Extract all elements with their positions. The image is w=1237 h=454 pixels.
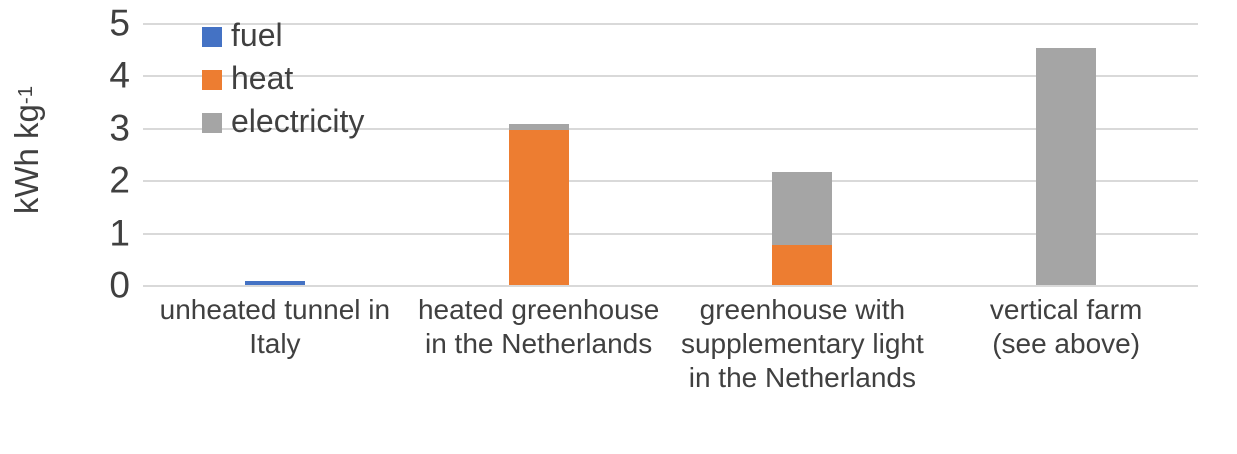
x-axis-category-label-line: unheated tunnel in (143, 293, 407, 327)
axis-baseline (143, 285, 1198, 287)
bar-group[interactable] (1036, 48, 1096, 285)
x-axis-category-label: greenhouse withsupplementary lightin the… (671, 293, 935, 395)
legend-item-heat[interactable]: heat (202, 61, 364, 95)
bar-segment-electricity[interactable] (772, 172, 832, 245)
bar-segment-heat[interactable] (772, 245, 832, 285)
y-axis-tick-label: 3 (78, 109, 130, 146)
y-axis-tick-labels: 543210 (78, 0, 130, 300)
x-axis-category-label-line: in the Netherlands (407, 327, 671, 361)
bar-segment-electricity[interactable] (509, 124, 569, 131)
y-axis-tick-label: 0 (78, 267, 130, 304)
chart-legend: fuelheatelectricity (202, 18, 364, 138)
x-axis-category-label-line: greenhouse with (671, 293, 935, 327)
legend-swatch-icon (202, 27, 222, 47)
x-axis-category-label-line: (see above) (934, 327, 1198, 361)
bar-segment-fuel[interactable] (245, 281, 305, 285)
bar-segment-electricity[interactable] (1036, 48, 1096, 285)
bar-group[interactable] (509, 124, 569, 285)
y-axis-title: kWh kg-1 (3, 0, 49, 300)
x-axis-category-label-line: in the Netherlands (671, 361, 935, 395)
legend-swatch-icon (202, 113, 222, 133)
x-axis-category-label: heated greenhousein the Netherlands (407, 293, 671, 361)
bar-group[interactable] (245, 281, 305, 285)
y-axis-tick-label: 1 (78, 214, 130, 251)
x-axis-category-label-line: heated greenhouse (407, 293, 671, 327)
legend-label: electricity (231, 105, 364, 137)
y-axis-tick-label: 4 (78, 57, 130, 94)
bar-chart: kWh kg-1 543210 fuelheatelectricity unhe… (0, 0, 1237, 454)
y-axis-tick-label: 5 (78, 5, 130, 42)
x-axis-category-label: vertical farm(see above) (934, 293, 1198, 361)
x-axis-category-label-line: vertical farm (934, 293, 1198, 327)
legend-label: fuel (231, 19, 283, 51)
x-axis-category-label: unheated tunnel inItaly (143, 293, 407, 361)
bar-group[interactable] (772, 172, 832, 285)
x-axis-category-label-line: supplementary light (671, 327, 935, 361)
legend-label: heat (231, 62, 293, 94)
legend-swatch-icon (202, 70, 222, 90)
x-axis-category-label-line: Italy (143, 327, 407, 361)
bar-segment-heat[interactable] (509, 130, 569, 285)
legend-item-fuel[interactable]: fuel (202, 18, 364, 52)
x-axis-category-labels: unheated tunnel inItalyheated greenhouse… (143, 293, 1198, 423)
y-axis-tick-label: 2 (78, 162, 130, 199)
legend-item-electricity[interactable]: electricity (202, 104, 364, 138)
y-axis-title-base: kWh kg (10, 104, 43, 214)
